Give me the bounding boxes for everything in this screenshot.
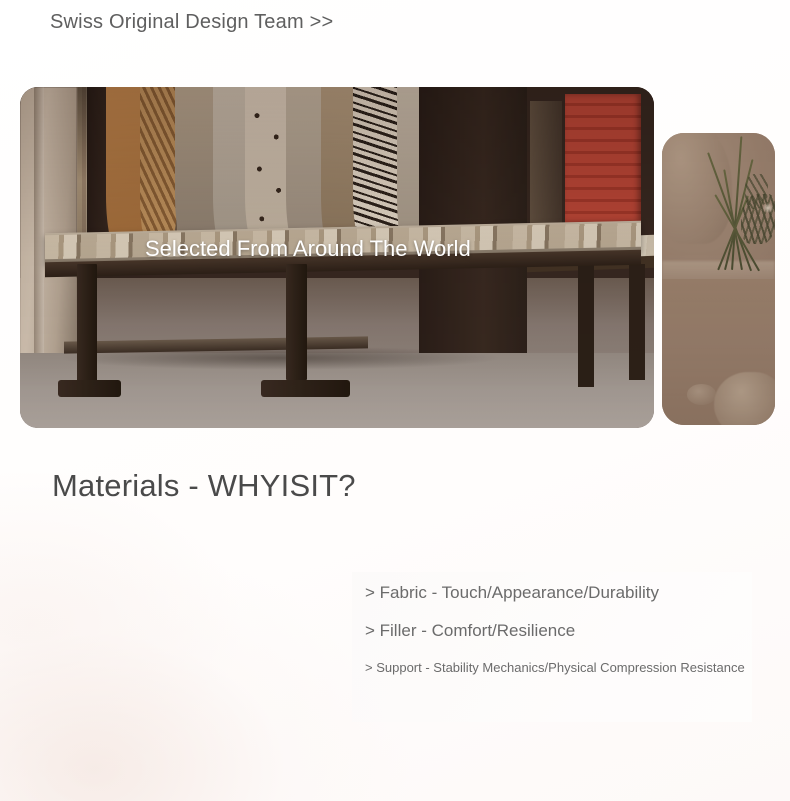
list-item: > Fabric - Touch/Appearance/Durability	[365, 583, 755, 602]
sand-and-plants-photo[interactable]	[662, 133, 775, 425]
materials-bullet-list: > Fabric - Touch/Appearance/Durability >…	[365, 583, 755, 676]
design-team-link[interactable]: Swiss Original Design Team >>	[50, 8, 333, 36]
list-item: > Filler - Comfort/Resilience	[365, 621, 755, 640]
materials-showroom-photo[interactable]: Selected From Around The World	[20, 87, 654, 428]
sand-photo-art	[662, 133, 775, 425]
slide-canvas: Swiss Original Design Team >>	[0, 0, 790, 801]
page-title: Materials - WHYISIT?	[52, 466, 356, 506]
hero-caption: Selected From Around The World	[145, 237, 475, 260]
list-item: > Support - Stability Mechanics/Physical…	[365, 659, 755, 676]
